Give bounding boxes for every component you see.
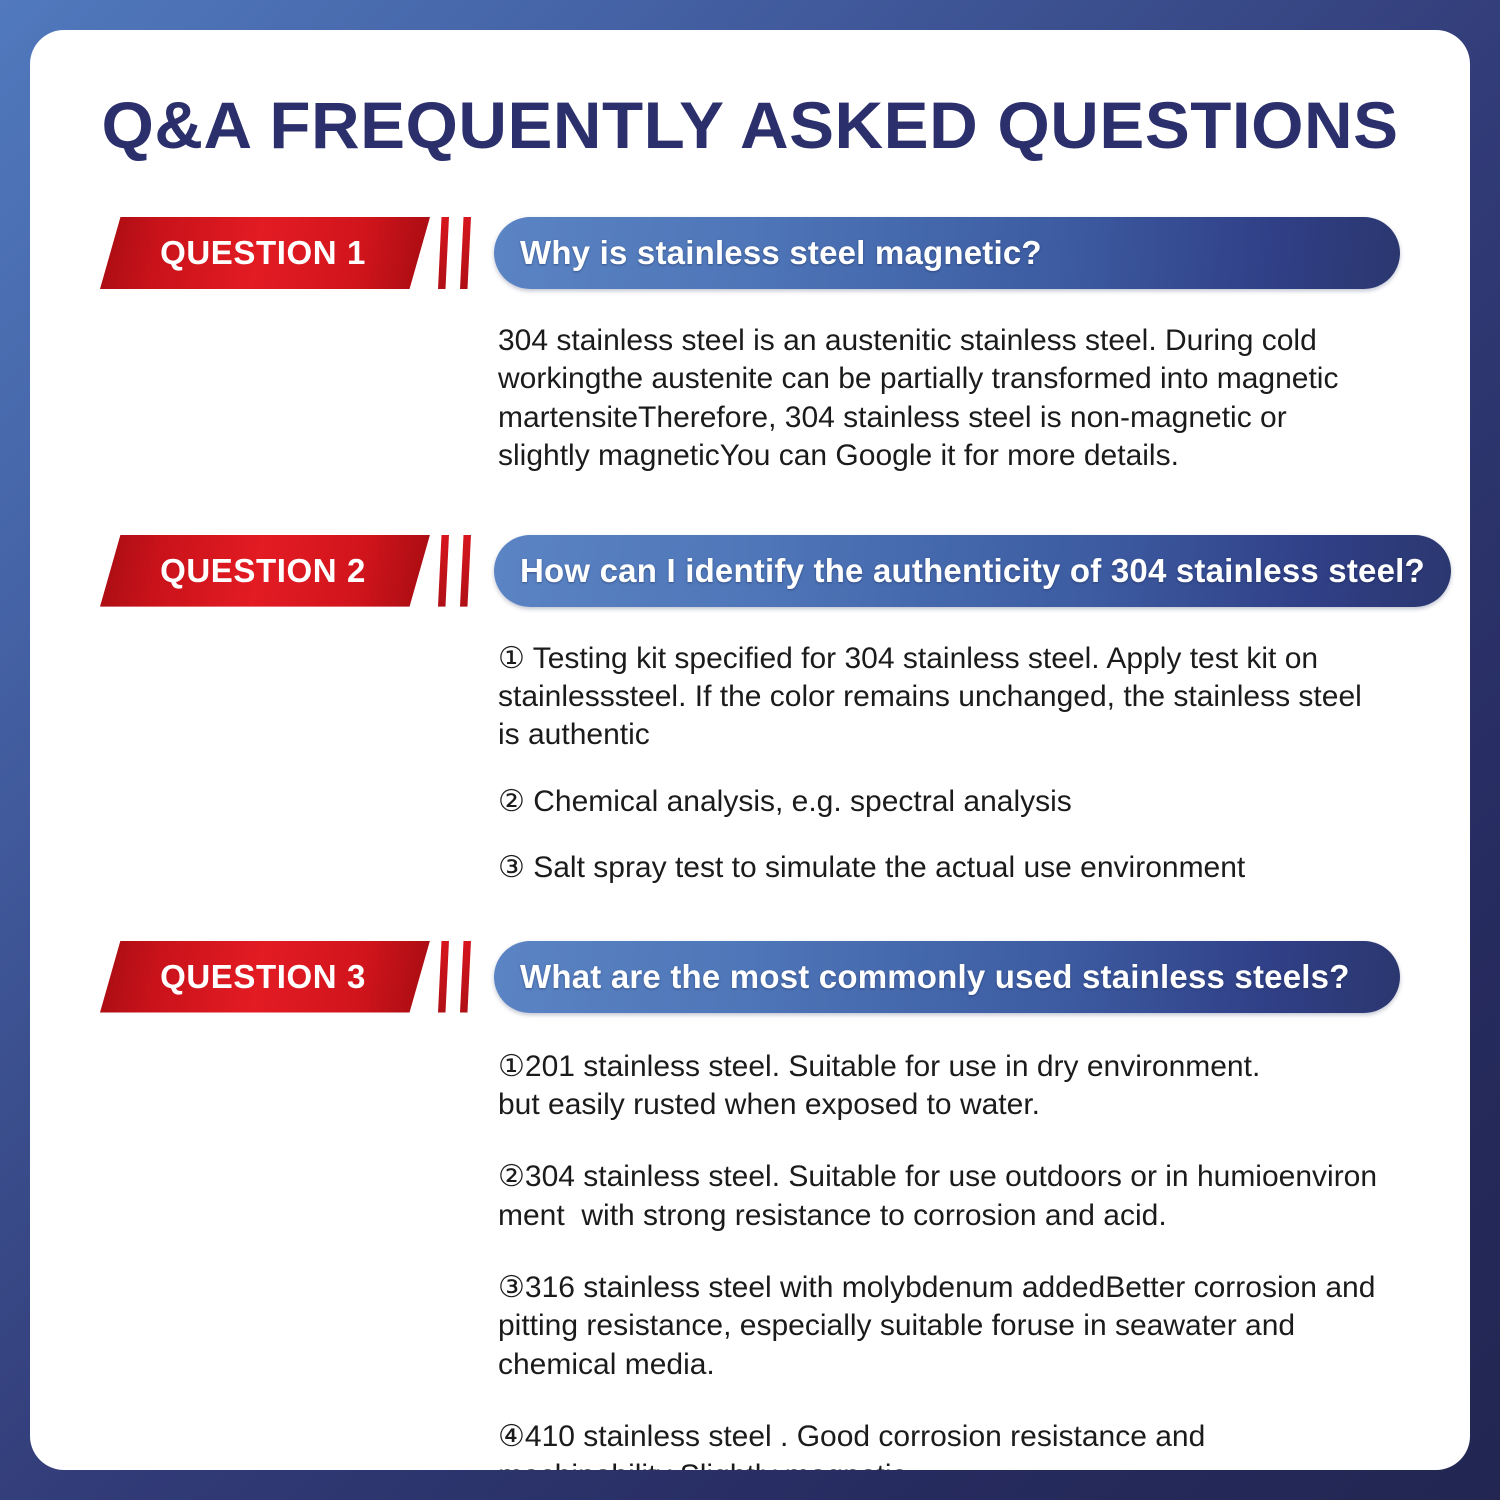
- page-title: Q&A FREQUENTLY ASKED QUESTIONS: [87, 92, 1413, 158]
- question-text-1: Why is stainless steel magnetic?: [520, 234, 1042, 272]
- question-pill-3: What are the most commonly used stainles…: [494, 941, 1400, 1013]
- question-tag-1: QUESTION 1: [100, 217, 430, 289]
- question-block-2: QUESTION 2 How can I identify the authen…: [100, 532, 1400, 888]
- question-text-2: How can I identify the authenticity of 3…: [520, 552, 1425, 590]
- answer-paragraph: ① Testing kit specified for 304 stainles…: [498, 640, 1384, 755]
- question-tag-label-1: QUESTION 1: [160, 234, 366, 272]
- question-tag-label-2: QUESTION 2: [160, 552, 366, 590]
- question-text-3: What are the most commonly used stainles…: [520, 958, 1350, 996]
- double-slash-icon-1: [436, 217, 484, 289]
- question-tag-2: QUESTION 2: [100, 535, 430, 607]
- answer-paragraph: ①201 stainless steel. Suitable for use i…: [498, 1048, 1384, 1125]
- answer-paragraph: ②304 stainless steel. Suitable for use o…: [498, 1158, 1384, 1235]
- faq-card: Q&A FREQUENTLY ASKED QUESTIONS QUESTION …: [30, 30, 1470, 1470]
- answer-paragraph: ② Chemical analysis, e.g. spectral analy…: [498, 783, 1384, 821]
- answer-body-2: ① Testing kit specified for 304 stainles…: [498, 640, 1400, 888]
- question-block-3: QUESTION 3 What are the most commonly us…: [100, 938, 1400, 1470]
- double-slash-icon-3: [436, 941, 484, 1013]
- question-header-2: QUESTION 2 How can I identify the authen…: [100, 532, 1400, 610]
- answer-paragraph: ③316 stainless steel with molybdenum add…: [498, 1269, 1384, 1384]
- question-block-1: QUESTION 1 Why is stainless steel magnet…: [100, 214, 1400, 476]
- question-pill-2: How can I identify the authenticity of 3…: [494, 535, 1451, 607]
- answer-paragraph: ③ Salt spray test to simulate the actual…: [498, 849, 1384, 887]
- page-background: Q&A FREQUENTLY ASKED QUESTIONS QUESTION …: [0, 0, 1500, 1500]
- question-header-3: QUESTION 3 What are the most commonly us…: [100, 938, 1400, 1016]
- answer-body-1: 304 stainless steel is an austenitic sta…: [498, 322, 1400, 476]
- question-header-1: QUESTION 1 Why is stainless steel magnet…: [100, 214, 1400, 292]
- answer-body-3: ①201 stainless steel. Suitable for use i…: [498, 1048, 1400, 1470]
- double-slash-icon-2: [436, 535, 484, 607]
- question-pill-1: Why is stainless steel magnetic?: [494, 217, 1400, 289]
- answer-paragraph: 304 stainless steel is an austenitic sta…: [498, 322, 1384, 476]
- question-tag-label-3: QUESTION 3: [160, 958, 366, 996]
- question-tag-3: QUESTION 3: [100, 941, 430, 1013]
- answer-paragraph: ④410 stainless steel . Good corrosion re…: [498, 1418, 1384, 1470]
